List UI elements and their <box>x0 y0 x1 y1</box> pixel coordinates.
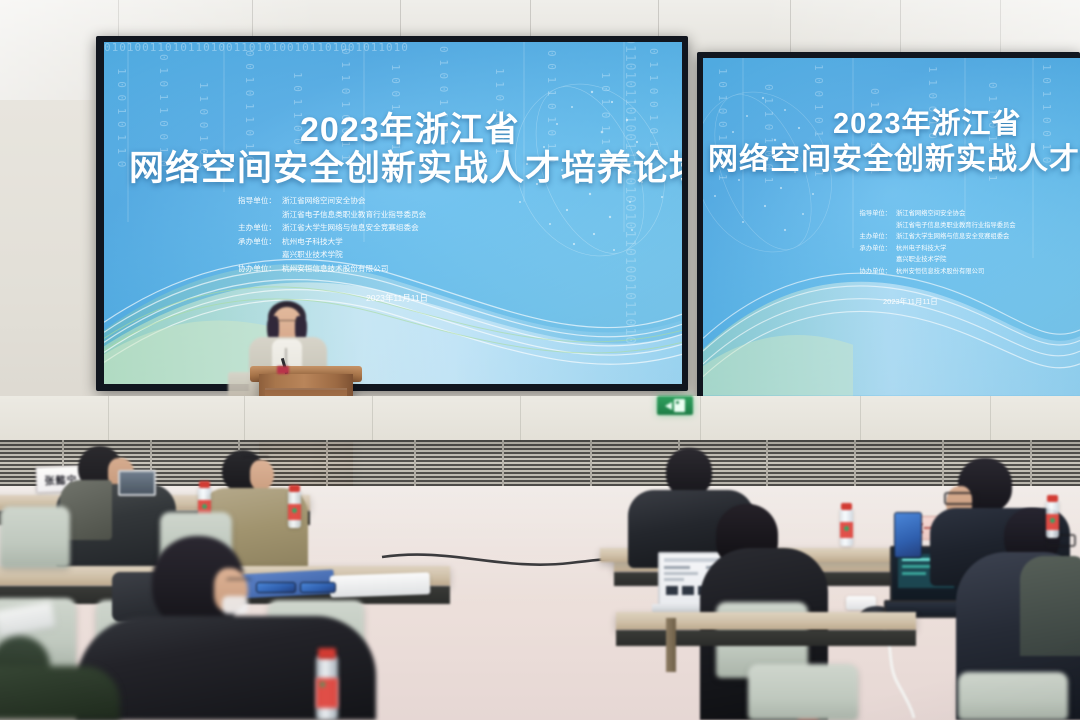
organizer-key: 指导单位： <box>851 208 891 220</box>
lower-wall-band <box>0 396 1080 442</box>
organizer-value: 嘉兴职业技术学院 <box>891 254 946 266</box>
organizer-key: 协办单位： <box>228 262 276 276</box>
organizer-row: 承办单位：杭州电子科技大学 <box>228 235 426 249</box>
organizer-value: 浙江省大学生网络与信息安全竞赛组委会 <box>276 221 419 235</box>
slide-date: 2023年11月11日 <box>366 292 428 304</box>
organizer-value: 浙江省网络空间安全协会 <box>891 208 965 220</box>
podium-badge <box>277 366 289 374</box>
organizer-row: 主办单位：浙江省大学生网络与信息安全竞赛组委会 <box>228 221 426 235</box>
desk-row2-right <box>616 612 916 630</box>
organizer-key: 承办单位： <box>851 243 891 255</box>
slide-right-date: 2023年11月11日 <box>883 296 938 307</box>
organizer-value: 杭州安恒信息技术股份有限公司 <box>276 262 388 276</box>
organizer-row: 协办单位：杭州安恒信息技术股份有限公司 <box>228 262 426 276</box>
bottle-cap-foreground <box>318 648 336 659</box>
phone-on-desk-left <box>256 582 296 593</box>
organizer-key <box>228 248 276 262</box>
eyeglasses-icon <box>243 456 269 463</box>
emergency-exit-sign <box>657 396 693 415</box>
organizer-row: 主办单位：浙江省大学生网络与信息安全竞赛组委会 <box>851 231 1016 243</box>
organizer-row: 承办单位：杭州电子科技大学 <box>851 243 1016 255</box>
phone-on-desk-left-2 <box>300 582 336 593</box>
organizer-key: 指导单位： <box>228 194 276 208</box>
organizer-value: 杭州安恒信息技术股份有限公司 <box>891 266 984 278</box>
organizer-value: 嘉兴职业技术学院 <box>276 248 343 262</box>
chair-row2-d <box>0 506 70 568</box>
desk-row2-right-front <box>616 630 916 646</box>
organizer-key: 承办单位： <box>228 235 276 249</box>
organizer-row: 嘉兴职业技术学院 <box>228 248 426 262</box>
organizer-value: 浙江省大学生网络与信息安全竞赛组委会 <box>891 231 1009 243</box>
organizer-value: 浙江省电子信息类职业教育行业指导委员会 <box>276 208 426 222</box>
led-wall-panel-main: 0101001101011010011010100101101001011010… <box>104 42 682 384</box>
held-phone <box>894 512 922 558</box>
organizer-row: 指导单位：浙江省网络空间安全协会 <box>851 208 1016 220</box>
organizer-key <box>228 208 276 222</box>
eyeglasses-icon-right <box>944 492 978 505</box>
organizer-key <box>851 254 891 266</box>
exit-arrow-icon <box>665 402 672 410</box>
organizer-row: 浙江省电子信息类职业教育行业指导委员会 <box>851 220 1016 232</box>
organizer-value: 杭州电子科技大学 <box>891 243 946 255</box>
organizer-value: 浙江省网络空间安全协会 <box>276 194 366 208</box>
louver-shadow <box>0 440 1080 492</box>
tablet-back-left <box>118 470 156 496</box>
chair-right-c <box>958 672 1068 720</box>
organizer-row: 嘉兴职业技术学院 <box>851 254 1016 266</box>
running-man-icon <box>674 399 685 412</box>
slide-right-organizer-block: 指导单位：浙江省网络空间安全协会 浙江省电子信息类职业教育行业指导委员会 主办单… <box>851 208 1016 277</box>
bottle-label-foreground <box>316 678 338 708</box>
organizer-key: 协办单位： <box>851 266 891 278</box>
chair-right-b <box>748 664 858 720</box>
organizer-row: 指导单位：浙江省网络空间安全协会 <box>228 194 426 208</box>
led-wall-panel-right: 1 0 1 0 0 1 1 0 1 0 1 1 0 1 0 0 1 1 0 0 … <box>703 58 1080 396</box>
slide-title-line2: 网络空间安全创新实战人才培养论坛 <box>129 140 682 191</box>
organizer-key <box>851 220 891 232</box>
slide-right-title-line2: 网络空间安全创新实战人才培养 <box>708 134 1080 178</box>
organizer-row: 浙江省电子信息类职业教育行业指导委员会 <box>228 208 426 222</box>
organizer-key: 主办单位： <box>851 231 891 243</box>
desk-leg-right <box>666 618 676 672</box>
organizer-value: 浙江省电子信息类职业教育行业指导委员会 <box>891 220 1016 232</box>
conference-photo-scene: 0101001101011010011010100101101001011010… <box>0 0 1080 720</box>
organizer-row: 协办单位：杭州安恒信息技术股份有限公司 <box>851 266 1016 278</box>
svg-text:1 0 0 1 0 1 1 0: 1 0 0 1 0 1 1 0 <box>115 68 128 167</box>
slide-organizer-block: 指导单位：浙江省网络空间安全协会 浙江省电子信息类职业教育行业指导委员会 主办单… <box>228 194 426 275</box>
organizer-key: 主办单位： <box>228 221 276 235</box>
paper-stack-left <box>330 572 431 597</box>
organizer-value: 杭州电子科技大学 <box>276 235 343 249</box>
